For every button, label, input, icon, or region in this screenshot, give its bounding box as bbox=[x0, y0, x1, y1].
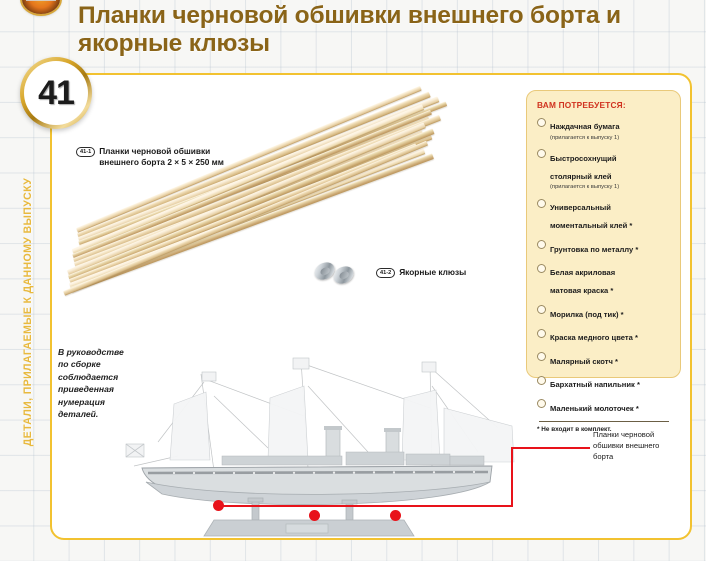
checkbox-icon[interactable] bbox=[537, 399, 546, 408]
callout-planks-text: Планки черновой обшивки внешнего борта 2… bbox=[99, 146, 224, 168]
checkbox-icon[interactable] bbox=[537, 329, 546, 338]
material-item[interactable]: Белая акриловая матовая краска * bbox=[537, 262, 671, 298]
sidebar-tab: ДЕТАЛИ, ПРИЛАГАЕМЫЕ К ДАННОМУ ВЫПУСКУ bbox=[18, 110, 40, 522]
material-item[interactable]: Морилка (под тик) * bbox=[537, 304, 671, 322]
sidebar-label: ДЕТАЛИ, ПРИЛАГАЕМЫЕ К ДАННОМУ ВЫПУСКУ bbox=[22, 106, 34, 518]
page-root: Планки черновой обшивки внешнего борта и… bbox=[0, 0, 706, 561]
materials-list: Наждачная бумага(прилагается к выпуску 1… bbox=[537, 116, 671, 416]
material-texts: Малярный скотч * bbox=[550, 351, 671, 369]
issue-number: 41 bbox=[24, 61, 88, 125]
page-title: Планки черновой обшивки внешнего борта и… bbox=[78, 2, 688, 57]
material-label: Наждачная бумага bbox=[550, 122, 620, 131]
checkbox-icon[interactable] bbox=[537, 118, 546, 127]
material-texts: Белая акриловая матовая краска * bbox=[550, 262, 671, 298]
material-item[interactable]: Бархатный напильник * bbox=[537, 374, 671, 392]
material-label: Быстросохнущий столярный клей bbox=[550, 154, 617, 181]
material-item[interactable]: Универсальный моментальный клей * bbox=[537, 197, 671, 233]
checkbox-icon[interactable] bbox=[537, 305, 546, 314]
material-label: Бархатный напильник * bbox=[550, 380, 640, 389]
callout-hawse: 41-2 Якорные клюзы bbox=[376, 267, 466, 278]
material-texts: Краска медного цвета * bbox=[550, 327, 671, 345]
callout-planks: 41-1 Планки черновой обшивки внешнего бо… bbox=[76, 146, 224, 168]
materials-divider bbox=[539, 421, 669, 422]
material-label: Морилка (под тик) * bbox=[550, 310, 624, 319]
material-item[interactable]: Грунтовка по металлу * bbox=[537, 239, 671, 257]
material-item[interactable]: Малярный скотч * bbox=[537, 351, 671, 369]
materials-title: ВАМ ПОТРЕБУЕТСЯ: bbox=[537, 100, 671, 110]
material-item[interactable]: Краска медного цвета * bbox=[537, 327, 671, 345]
material-texts: Грунтовка по металлу * bbox=[550, 239, 671, 257]
material-item[interactable]: Наждачная бумага(прилагается к выпуску 1… bbox=[537, 116, 671, 142]
ship-callout-label: Планки черновой обшивки внешнего борта bbox=[593, 430, 693, 462]
hawse-pipes-photo bbox=[314, 258, 362, 286]
checkbox-icon[interactable] bbox=[537, 149, 546, 158]
material-texts: Универсальный моментальный клей * bbox=[550, 197, 671, 233]
callout-hawse-badge: 41-2 bbox=[376, 268, 395, 278]
checkbox-icon[interactable] bbox=[537, 199, 546, 208]
material-texts: Быстросохнущий столярный клей(прилагаетс… bbox=[550, 148, 671, 192]
callout-hawse-text: Якорные клюзы bbox=[399, 267, 466, 278]
checkbox-icon[interactable] bbox=[537, 352, 546, 361]
material-label: Маленький молоточек * bbox=[550, 404, 639, 413]
material-sublabel: (прилагается к выпуску 1) bbox=[550, 184, 671, 192]
materials-panel: ВАМ ПОТРЕБУЕТСЯ: Наждачная бумага(прилаг… bbox=[526, 90, 681, 378]
material-texts: Наждачная бумага(прилагается к выпуску 1… bbox=[550, 116, 671, 142]
issue-number-badge: 41 bbox=[20, 57, 92, 129]
checkbox-icon[interactable] bbox=[537, 240, 546, 249]
callout-planks-badge: 41-1 bbox=[76, 147, 95, 157]
material-texts: Морилка (под тик) * bbox=[550, 304, 671, 322]
material-label: Краска медного цвета * bbox=[550, 333, 638, 342]
material-sublabel: (прилагается к выпуску 1) bbox=[550, 135, 671, 143]
checkbox-icon[interactable] bbox=[537, 264, 546, 273]
ship-model-photo bbox=[118, 356, 528, 540]
checkbox-icon[interactable] bbox=[537, 376, 546, 385]
material-label: Грунтовка по металлу * bbox=[550, 245, 638, 254]
material-label: Малярный скотч * bbox=[550, 357, 618, 366]
material-texts: Бархатный напильник * bbox=[550, 374, 671, 392]
material-item[interactable]: Маленький молоточек * bbox=[537, 398, 671, 416]
material-item[interactable]: Быстросохнущий столярный клей(прилагаетс… bbox=[537, 148, 671, 192]
material-label: Универсальный моментальный клей * bbox=[550, 203, 632, 230]
ship-illustration bbox=[118, 356, 528, 540]
material-texts: Маленький молоточек * bbox=[550, 398, 671, 416]
material-label: Белая акриловая матовая краска * bbox=[550, 268, 615, 295]
